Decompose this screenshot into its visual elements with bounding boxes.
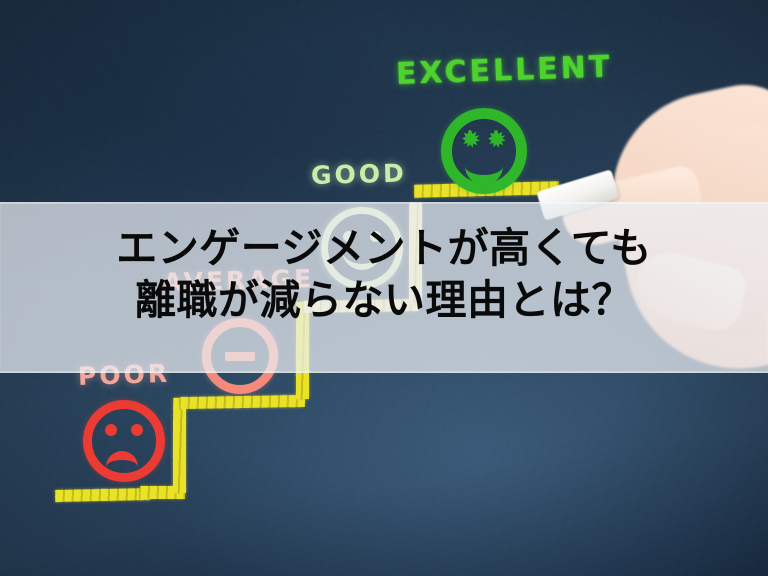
star-eye-right bbox=[488, 130, 506, 148]
rating-label-good: GOOD bbox=[311, 158, 408, 189]
sad-face-mouth bbox=[106, 451, 138, 478]
page-title-line-2: 離職が減らない理由とは？ bbox=[0, 274, 768, 326]
page-title-line-1: エンゲージメントが高くても bbox=[0, 222, 768, 274]
star-smiley-mouth bbox=[465, 155, 503, 185]
star-eyed-smiley-face-icon bbox=[441, 108, 527, 194]
sad-face-right-eye bbox=[131, 424, 143, 436]
chalk-segment-h1 bbox=[55, 488, 150, 502]
banner-top-edge bbox=[0, 202, 768, 204]
sad-face-left-eye bbox=[105, 424, 117, 436]
sad-face-icon bbox=[83, 400, 165, 482]
star-eye-left bbox=[462, 130, 480, 148]
page-title: エンゲージメントが高くても 離職が減らない理由とは？ bbox=[0, 222, 768, 327]
chalk-segment-v1 bbox=[173, 398, 186, 493]
title-card: EXCELLENT GOOD AVERAGE POOR エンゲージメントが高くて… bbox=[0, 0, 768, 576]
chalk-segment-h2 bbox=[180, 395, 305, 409]
banner-bottom-edge bbox=[0, 371, 768, 373]
